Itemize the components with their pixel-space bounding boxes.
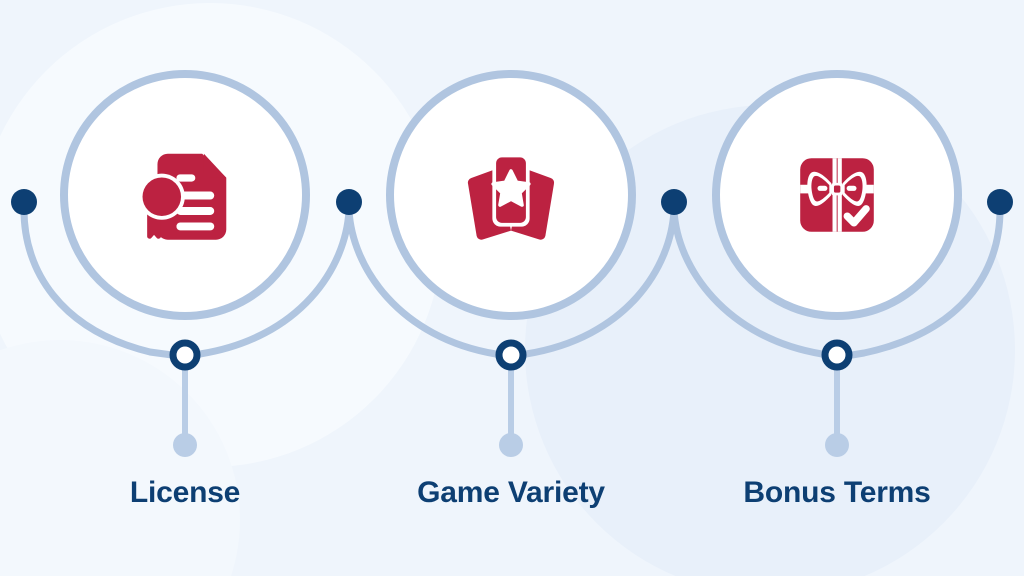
ring-marker-step-3[interactable]	[825, 343, 849, 367]
ring-marker-step-1[interactable]	[173, 343, 197, 367]
infographic-canvas: License Game Variety Bonus Terms	[0, 0, 1024, 576]
connector-dot-between-1-2[interactable]	[336, 189, 362, 215]
connector-dot-between-2-3[interactable]	[661, 189, 687, 215]
step-label-game-variety: Game Variety	[417, 478, 605, 508]
connector-dot-start[interactable]	[11, 189, 37, 215]
step-label-bonus-terms: Bonus Terms	[743, 478, 930, 508]
step-label-license: License	[130, 478, 240, 508]
connector-dot-end[interactable]	[987, 189, 1013, 215]
ring-marker-step-2[interactable]	[499, 343, 523, 367]
